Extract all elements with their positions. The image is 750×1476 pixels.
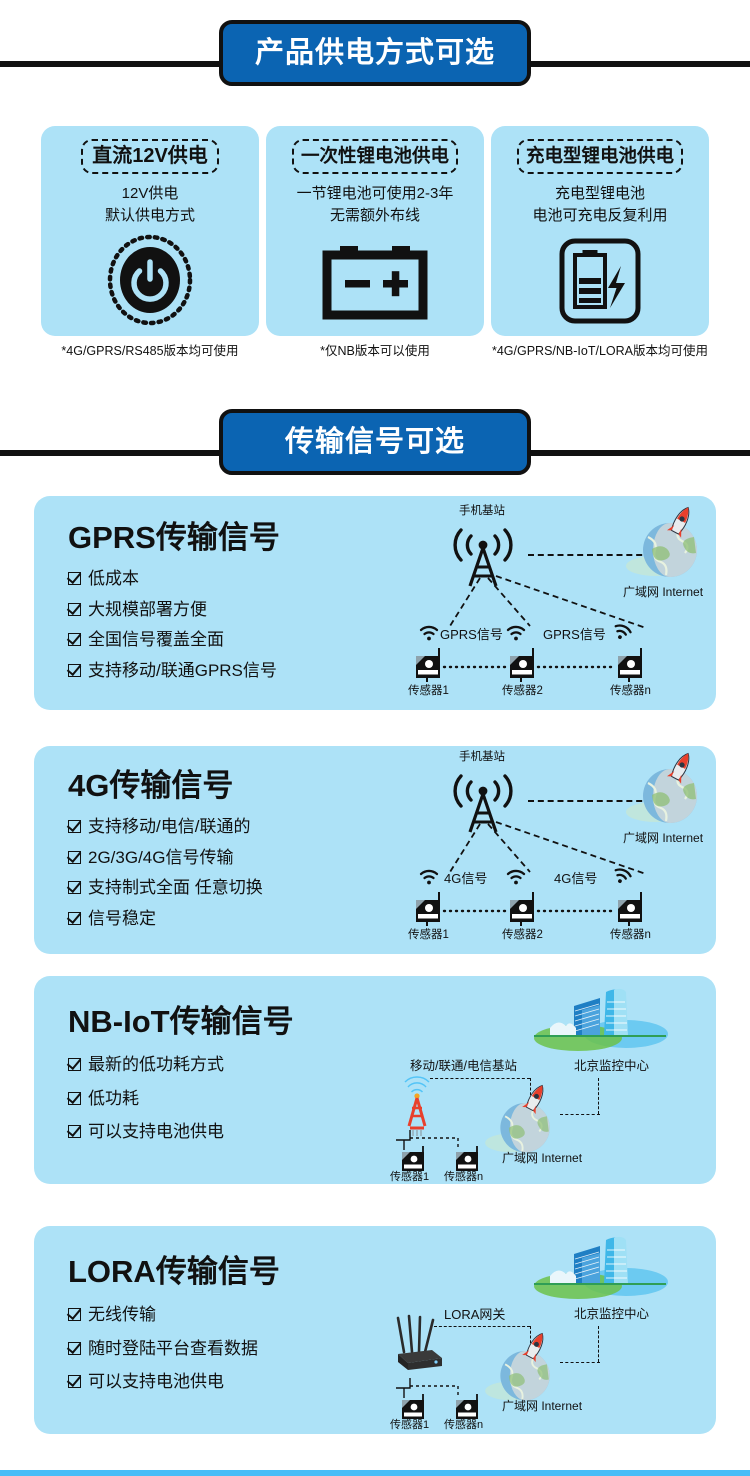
check-icon bbox=[68, 881, 81, 894]
bottom-accent-strip bbox=[0, 1470, 750, 1476]
banner-title: 传输信号可选 bbox=[285, 428, 465, 457]
power-card-rechargeable-lithium[interactable]: 充电型锂电池供电 充电型锂电池 电池可充电反复利用 bbox=[491, 126, 709, 336]
signal-card-left: GPRS传输信号 低成本 大规模部署方便 全国信号覆盖全面 支持移动/联通GPR… bbox=[68, 522, 398, 691]
list-item: 支持移动/联通GPRS信号 bbox=[68, 661, 398, 681]
feature-label: 随时登陆平台查看数据 bbox=[88, 1339, 258, 1359]
feature-label: 低成本 bbox=[88, 569, 139, 589]
link-center-down bbox=[598, 1078, 599, 1114]
link-gateway-internet bbox=[434, 1326, 530, 1327]
car-battery-icon bbox=[266, 244, 484, 320]
list-item: 支持制式全面 任意切换 bbox=[68, 878, 398, 898]
check-icon bbox=[68, 820, 81, 833]
list-item: 信号稳定 bbox=[68, 909, 398, 929]
signal-wifi-icon bbox=[611, 622, 633, 641]
sensor-row bbox=[414, 892, 674, 926]
check-icon bbox=[68, 1092, 81, 1105]
check-icon bbox=[68, 851, 81, 864]
power-card-title: 充电型锂电池供电 bbox=[517, 139, 683, 174]
signal-card-left: NB-IoT传输信号 最新的低功耗方式 低功耗 可以支持电池供电 bbox=[68, 1006, 398, 1156]
power-card-desc-line1: 充电型锂电池 bbox=[532, 183, 667, 205]
list-item: 最新的低功耗方式 bbox=[68, 1055, 398, 1075]
feature-label: 低功耗 bbox=[88, 1089, 139, 1109]
sensor-label: 传感器n bbox=[444, 1420, 483, 1431]
power-card-desc: 一节锂电池可使用2-3年 无需额外布线 bbox=[297, 183, 454, 227]
check-icon bbox=[68, 1308, 81, 1321]
power-card-note: *4G/GPRS/RS485版本均可使用 bbox=[34, 342, 266, 360]
section-banner-transmission: 传输信号可选 bbox=[0, 409, 750, 493]
city-skyline-icon bbox=[530, 984, 668, 1056]
banner-title: 产品供电方式可选 bbox=[255, 39, 495, 68]
power-card-dc12v[interactable]: 直流12V供电 12V供电 默认供电方式 bbox=[41, 126, 259, 336]
power-card-desc-line1: 12V供电 bbox=[105, 183, 195, 205]
list-item: 低成本 bbox=[68, 569, 398, 589]
check-icon bbox=[68, 1342, 81, 1355]
sensor-label: 传感器1 bbox=[408, 686, 449, 698]
sensor-wiring bbox=[396, 1374, 506, 1418]
link-internet-center bbox=[560, 1114, 600, 1115]
sensor-label: 传感器2 bbox=[502, 686, 543, 698]
feature-label: 无线传输 bbox=[88, 1305, 156, 1325]
signal-card-lora[interactable]: LORA传输信号 无线传输 随时登陆平台查看数据 可以支持电池供电 bbox=[34, 1226, 716, 1434]
sensor-row bbox=[414, 648, 674, 682]
feature-label: 全国信号覆盖全面 bbox=[88, 630, 224, 650]
signal-wifi-icon bbox=[611, 866, 633, 885]
power-card-desc: 12V供电 默认供电方式 bbox=[105, 183, 195, 227]
banner-box: 传输信号可选 bbox=[219, 409, 531, 475]
city-skyline-icon bbox=[530, 1232, 668, 1304]
feature-list: 最新的低功耗方式 低功耗 可以支持电池供电 bbox=[68, 1055, 398, 1142]
feature-label: 支持移动/电信/联通的 bbox=[88, 817, 250, 837]
power-card-desc-line1: 一节锂电池可使用2-3年 bbox=[297, 183, 454, 205]
signal-wifi-icon bbox=[419, 868, 439, 885]
signal-wifi-icon bbox=[419, 624, 439, 641]
list-item: 无线传输 bbox=[68, 1305, 398, 1325]
link-basestation-internet bbox=[430, 1078, 530, 1079]
signal-card-left: 4G传输信号 支持移动/电信/联通的 2G/3G/4G信号传输 支持制式全面 任… bbox=[68, 770, 398, 939]
signal-card-nbiot[interactable]: NB-IoT传输信号 最新的低功耗方式 低功耗 可以支持电池供电 bbox=[34, 976, 716, 1184]
power-card-title: 直流12V供电 bbox=[81, 139, 219, 174]
sensor-label: 传感器2 bbox=[502, 930, 543, 942]
feature-list: 低成本 大规模部署方便 全国信号覆盖全面 支持移动/联通GPRS信号 bbox=[68, 569, 398, 680]
signal-card-left: LORA传输信号 无线传输 随时登陆平台查看数据 可以支持电池供电 bbox=[68, 1256, 398, 1406]
list-item: 随时登陆平台查看数据 bbox=[68, 1339, 398, 1359]
feature-label: 大规模部署方便 bbox=[88, 600, 207, 620]
signal-card-gprs[interactable]: GPRS传输信号 低成本 大规模部署方便 全国信号覆盖全面 支持移动/联通GPR… bbox=[34, 496, 716, 710]
tower-label: 手机基站 bbox=[459, 752, 505, 764]
list-item: 支持移动/电信/联通的 bbox=[68, 817, 398, 837]
feature-label: 最新的低功耗方式 bbox=[88, 1055, 224, 1075]
diagram-lora: LORA网关 北京监控中心 bbox=[388, 1232, 708, 1432]
check-icon bbox=[68, 633, 81, 646]
basestation-label: 移动/联通/电信基站 bbox=[410, 1060, 517, 1073]
list-item: 可以支持电池供电 bbox=[68, 1372, 398, 1392]
feature-list: 无线传输 随时登陆平台查看数据 可以支持电池供电 bbox=[68, 1305, 398, 1392]
sensor-label: 传感器1 bbox=[408, 930, 449, 942]
signal-card-title: 4G传输信号 bbox=[68, 770, 398, 801]
power-card-desc-line2: 默认供电方式 bbox=[105, 205, 195, 227]
link-internet-center bbox=[560, 1362, 600, 1363]
power-card-desc-line2: 电池可充电反复利用 bbox=[532, 205, 667, 227]
check-icon bbox=[68, 603, 81, 616]
feature-label: 2G/3G/4G信号传输 bbox=[88, 848, 233, 868]
signal-card-title: LORA传输信号 bbox=[68, 1256, 398, 1287]
signal-label-right: GPRS信号 bbox=[543, 628, 606, 641]
sensor-label: 传感器n bbox=[610, 686, 651, 698]
signal-card-4g[interactable]: 4G传输信号 支持移动/电信/联通的 2G/3G/4G信号传输 支持制式全面 任… bbox=[34, 746, 716, 954]
monitoring-center-label: 北京监控中心 bbox=[574, 1308, 649, 1321]
feature-label: 可以支持电池供电 bbox=[88, 1372, 224, 1392]
power-card-desc-line2: 无需额外布线 bbox=[297, 205, 454, 227]
check-icon bbox=[68, 1375, 81, 1388]
tower-sensor-links bbox=[424, 574, 690, 634]
feature-label: 可以支持电池供电 bbox=[88, 1122, 224, 1142]
sensor-label: 传感器1 bbox=[390, 1172, 429, 1183]
diagram-gprs: 手机基站 bbox=[396, 502, 706, 706]
check-icon bbox=[68, 1058, 81, 1071]
power-card-note: *4G/GPRS/NB-IoT/LORA版本均可使用 bbox=[484, 342, 716, 360]
power-card-primary-lithium[interactable]: 一次性锂电池供电 一节锂电池可使用2-3年 无需额外布线 bbox=[266, 126, 484, 336]
feature-label: 支持移动/联通GPRS信号 bbox=[88, 661, 277, 681]
sensor-wiring bbox=[396, 1126, 506, 1170]
sensor-label: 传感器n bbox=[444, 1172, 483, 1183]
section-banner-power: 产品供电方式可选 bbox=[0, 20, 750, 104]
diagram-nbiot: 移动/联通/电信基站 北京监控中心 bbox=[388, 982, 708, 1182]
list-item: 全国信号覆盖全面 bbox=[68, 630, 398, 650]
tower-label: 手机基站 bbox=[459, 506, 505, 518]
list-item: 2G/3G/4G信号传输 bbox=[68, 848, 398, 868]
globe-internet-icon bbox=[632, 504, 710, 584]
power-card-note: *仅NB版本可以使用 bbox=[259, 342, 491, 360]
power-options-row: 直流12V供电 12V供电 默认供电方式 一次性锂电池供电 一节锂电池可使用2-… bbox=[0, 126, 750, 386]
internet-label: 广域网 Internet bbox=[502, 1400, 582, 1412]
feature-label: 支持制式全面 任意切换 bbox=[88, 878, 263, 898]
diagram-4g: 手机基站 bbox=[396, 750, 706, 950]
list-item: 大规模部署方便 bbox=[68, 600, 398, 620]
monitoring-center-label: 北京监控中心 bbox=[574, 1060, 649, 1073]
signal-wifi-icon bbox=[506, 624, 526, 641]
power-card-desc: 充电型锂电池 电池可充电反复利用 bbox=[532, 183, 667, 227]
signal-label-left: 4G信号 bbox=[444, 872, 487, 885]
list-item: 低功耗 bbox=[68, 1089, 398, 1109]
globe-internet-icon bbox=[632, 750, 710, 830]
internet-label: 广域网 Internet bbox=[502, 1152, 582, 1164]
check-icon bbox=[68, 912, 81, 925]
signal-label-right: 4G信号 bbox=[554, 872, 597, 885]
sensor-label: 传感器n bbox=[610, 930, 651, 942]
check-icon bbox=[68, 1125, 81, 1138]
link-center-down bbox=[598, 1326, 599, 1362]
power-button-icon bbox=[41, 234, 259, 326]
power-card-title: 一次性锂电池供电 bbox=[292, 139, 458, 174]
rechargeable-battery-icon bbox=[491, 238, 709, 324]
signal-card-title: NB-IoT传输信号 bbox=[68, 1006, 398, 1037]
feature-list: 支持移动/电信/联通的 2G/3G/4G信号传输 支持制式全面 任意切换 信号稳… bbox=[68, 817, 398, 928]
signal-wifi-icon bbox=[506, 868, 526, 885]
signal-label-left: GPRS信号 bbox=[440, 628, 503, 641]
product-infographic-page: 产品供电方式可选 直流12V供电 12V供电 默认供电方式 一次性锂电池供电 bbox=[0, 0, 750, 1476]
gateway-label: LORA网关 bbox=[444, 1308, 505, 1321]
check-icon bbox=[68, 572, 81, 585]
signal-card-title: GPRS传输信号 bbox=[68, 522, 398, 553]
list-item: 可以支持电池供电 bbox=[68, 1122, 398, 1142]
check-icon bbox=[68, 664, 81, 677]
sensor-label: 传感器1 bbox=[390, 1420, 429, 1431]
feature-label: 信号稳定 bbox=[88, 909, 156, 929]
banner-box: 产品供电方式可选 bbox=[219, 20, 531, 86]
